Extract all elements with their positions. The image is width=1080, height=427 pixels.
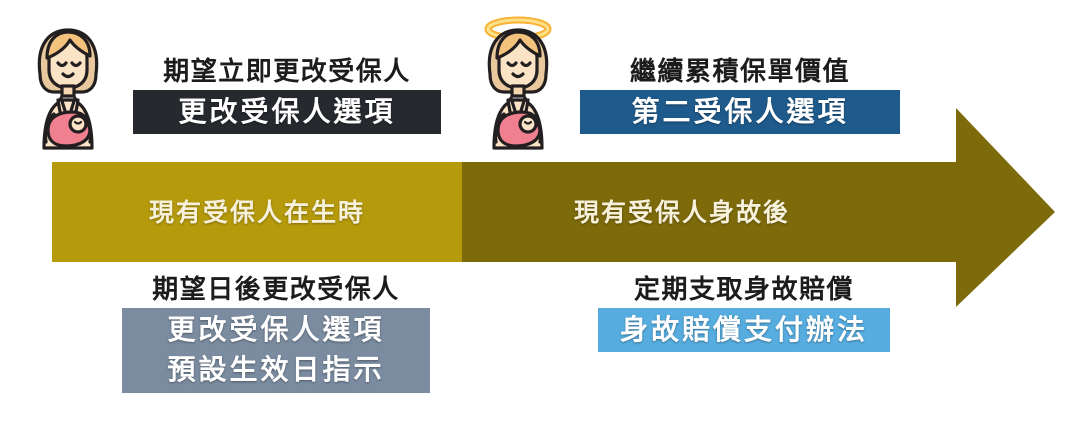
diagram-canvas: 現有受保人在生時 現有受保人身故後 <box>0 0 1080 427</box>
timeline-segment-deceased-label: 現有受保人身故後 <box>462 192 902 234</box>
timeline-segment-alive-label: 現有受保人在生時 <box>52 192 462 234</box>
woman-holding-baby-with-halo-icon <box>470 14 566 144</box>
callout-bottom-left-heading: 期望日後更改受保人 <box>122 270 430 308</box>
callout-top-right: 繼續累積保單價值 第二受保人選項 <box>580 52 900 134</box>
callout-bottom-left: 期望日後更改受保人 更改受保人選項 預設生效日指示 <box>122 270 430 393</box>
callout-top-right-chip[interactable]: 第二受保人選項 <box>580 90 900 134</box>
callout-top-left: 期望立即更改受保人 更改受保人選項 <box>118 52 456 134</box>
callout-bottom-left-chip[interactable]: 更改受保人選項 預設生效日指示 <box>122 308 430 393</box>
callout-bottom-right-chip[interactable]: 身故賠償支付辦法 <box>598 308 890 352</box>
callout-bottom-right-heading: 定期支取身故賠償 <box>598 270 890 308</box>
callout-top-left-chip[interactable]: 更改受保人選項 <box>133 90 441 134</box>
callout-bottom-right: 定期支取身故賠償 身故賠償支付辦法 <box>598 270 890 352</box>
callout-bottom-left-chip-line-1: 更改受保人選項 <box>167 314 384 345</box>
callout-top-left-heading: 期望立即更改受保人 <box>118 52 456 90</box>
timeline-arrow-head <box>956 108 1055 307</box>
callout-top-right-heading: 繼續累積保單價值 <box>580 52 900 90</box>
callout-bottom-left-chip-line-2: 預設生效日指示 <box>167 354 384 385</box>
woman-holding-baby-icon <box>20 22 116 152</box>
